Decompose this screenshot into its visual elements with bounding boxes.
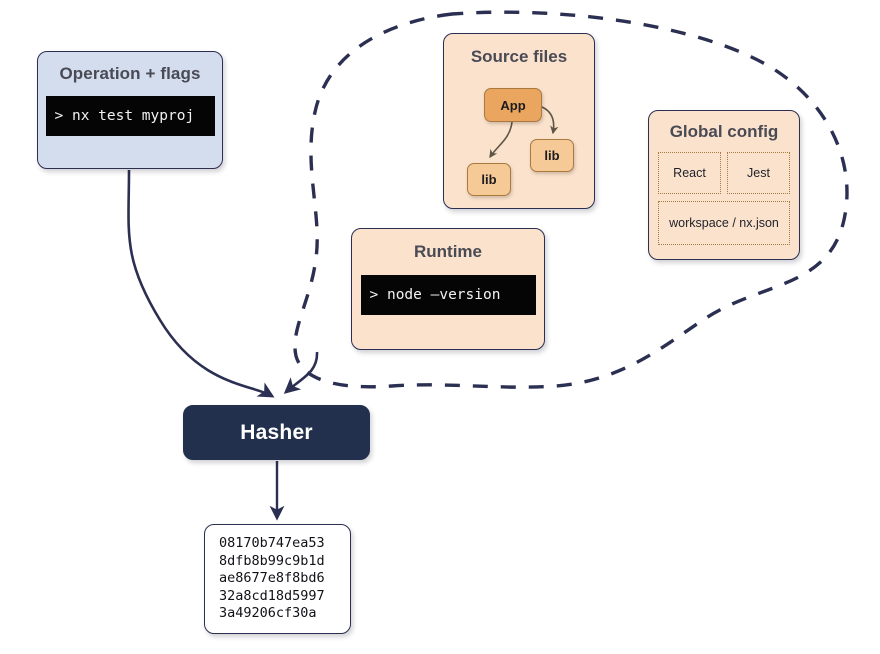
runtime-command-terminal: > node –version [361, 275, 536, 315]
source-files-node: Source files App lib lib [443, 33, 595, 209]
edge-operation-to-hasher [128, 170, 272, 396]
hash-output-text: 08170b747ea53 8dfb8b99c9b1d ae8677e8f8bd… [219, 535, 350, 623]
global-config-item-jest: Jest [727, 152, 790, 194]
source-files-dependency-graph: App lib lib [443, 67, 595, 187]
edge-inputs-to-hasher [286, 352, 317, 392]
operation-command-terminal: > nx test myproj [46, 96, 215, 136]
hasher-node: Hasher [183, 405, 370, 460]
operation-flags-title: Operation + flags [59, 64, 200, 84]
source-files-title: Source files [471, 47, 567, 67]
runtime-node: Runtime > node –version [351, 228, 545, 350]
source-node-lib-left: lib [467, 163, 511, 196]
global-config-node: Global config React Jest workspace / nx.… [648, 110, 800, 260]
source-node-app: App [484, 88, 542, 122]
operation-flags-node: Operation + flags > nx test myproj [37, 51, 223, 169]
diagram-canvas: Operation + flags > nx test myproj Sourc… [0, 0, 880, 654]
edge-app-to-lib-left [490, 122, 512, 157]
edge-app-to-lib-right [542, 107, 554, 133]
global-config-item-react: React [658, 152, 721, 194]
source-node-lib-right: lib [530, 139, 574, 172]
hash-output-node: 08170b747ea53 8dfb8b99c9b1d ae8677e8f8bd… [204, 524, 351, 634]
hasher-label: Hasher [240, 421, 312, 445]
runtime-title: Runtime [414, 242, 482, 262]
global-config-row: React Jest [658, 152, 790, 194]
global-config-title: Global config [670, 122, 779, 142]
global-config-item-workspace: workspace / nx.json [658, 201, 790, 245]
